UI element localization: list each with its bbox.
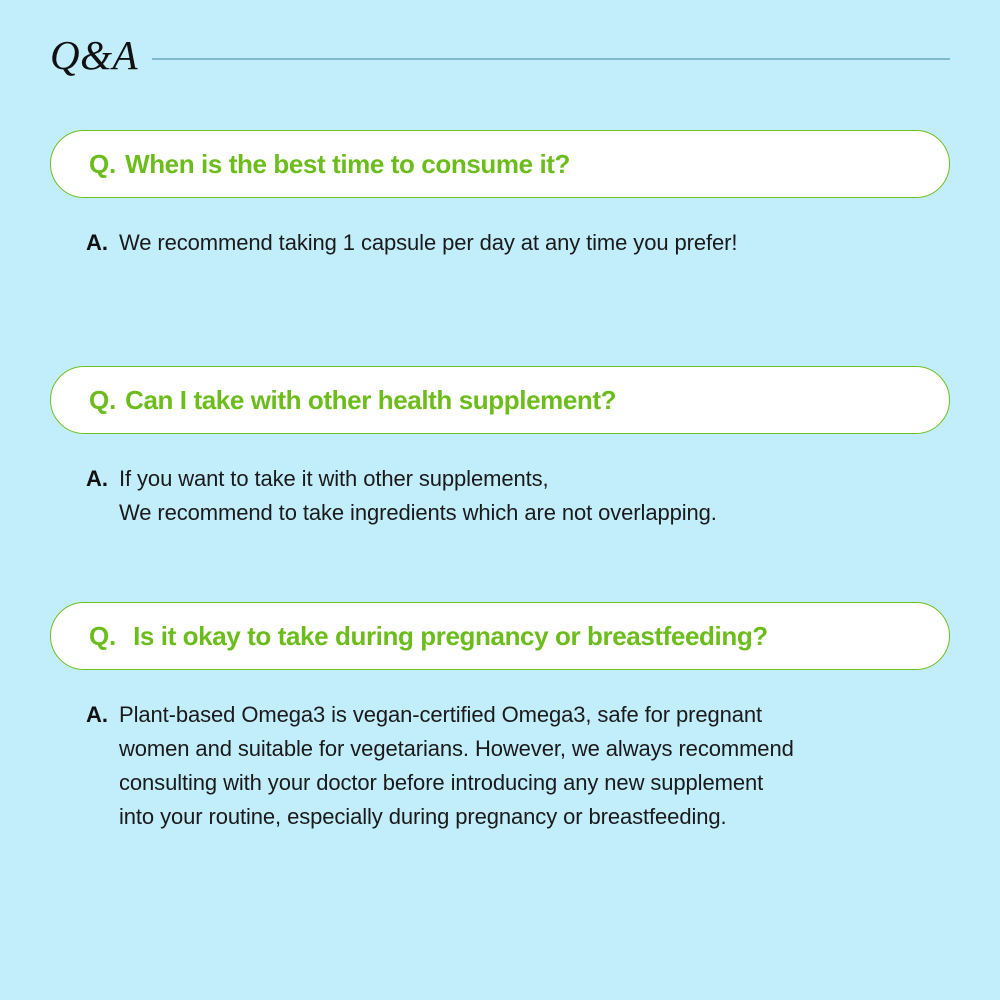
answer-block-1: A. We recommend taking 1 capsule per day… — [86, 226, 940, 260]
question-text: Is it okay to take during pregnancy or b… — [133, 621, 768, 652]
question-marker: Q. — [89, 621, 116, 652]
question-marker: Q. — [89, 385, 116, 416]
question-marker: Q. — [89, 149, 116, 180]
answer-line: Plant-based Omega3 is vegan-certified Om… — [119, 698, 940, 732]
answer-line: We recommend to take ingredients which a… — [119, 496, 940, 530]
page-header: Q&A — [0, 0, 1000, 110]
answer-lines: If you want to take it with other supple… — [119, 462, 940, 530]
answer-marker: A. — [86, 698, 108, 732]
qa-item-3: Q. Is it okay to take during pregnancy o… — [0, 602, 1000, 834]
answer-marker: A. — [86, 226, 108, 260]
question-text: Can I take with other health supplement? — [125, 385, 616, 416]
qa-item-2: Q. Can I take with other health suppleme… — [0, 366, 1000, 530]
question-text: When is the best time to consume it? — [125, 149, 570, 180]
qa-list: Q. When is the best time to consume it? … — [0, 130, 1000, 834]
answer-line: We recommend taking 1 capsule per day at… — [119, 226, 940, 260]
question-pill-3[interactable]: Q. Is it okay to take during pregnancy o… — [50, 602, 950, 670]
answer-line: If you want to take it with other supple… — [119, 462, 940, 496]
answer-line: women and suitable for vegetarians. Howe… — [119, 732, 940, 766]
question-pill-2[interactable]: Q. Can I take with other health suppleme… — [50, 366, 950, 434]
answer-line: into your routine, especially during pre… — [119, 800, 940, 834]
answer-marker: A. — [86, 462, 108, 496]
header-divider — [152, 58, 950, 60]
question-pill-1[interactable]: Q. When is the best time to consume it? — [50, 130, 950, 198]
qa-item-1: Q. When is the best time to consume it? … — [0, 130, 1000, 260]
page-title: Q&A — [50, 35, 138, 76]
answer-block-3: A. Plant-based Omega3 is vegan-certified… — [86, 698, 940, 834]
answer-block-2: A. If you want to take it with other sup… — [86, 462, 940, 530]
answer-lines: Plant-based Omega3 is vegan-certified Om… — [119, 698, 940, 834]
section-spacer — [0, 530, 1000, 602]
answer-lines: We recommend taking 1 capsule per day at… — [119, 226, 940, 260]
answer-line: consulting with your doctor before intro… — [119, 766, 940, 800]
section-spacer — [0, 260, 1000, 366]
